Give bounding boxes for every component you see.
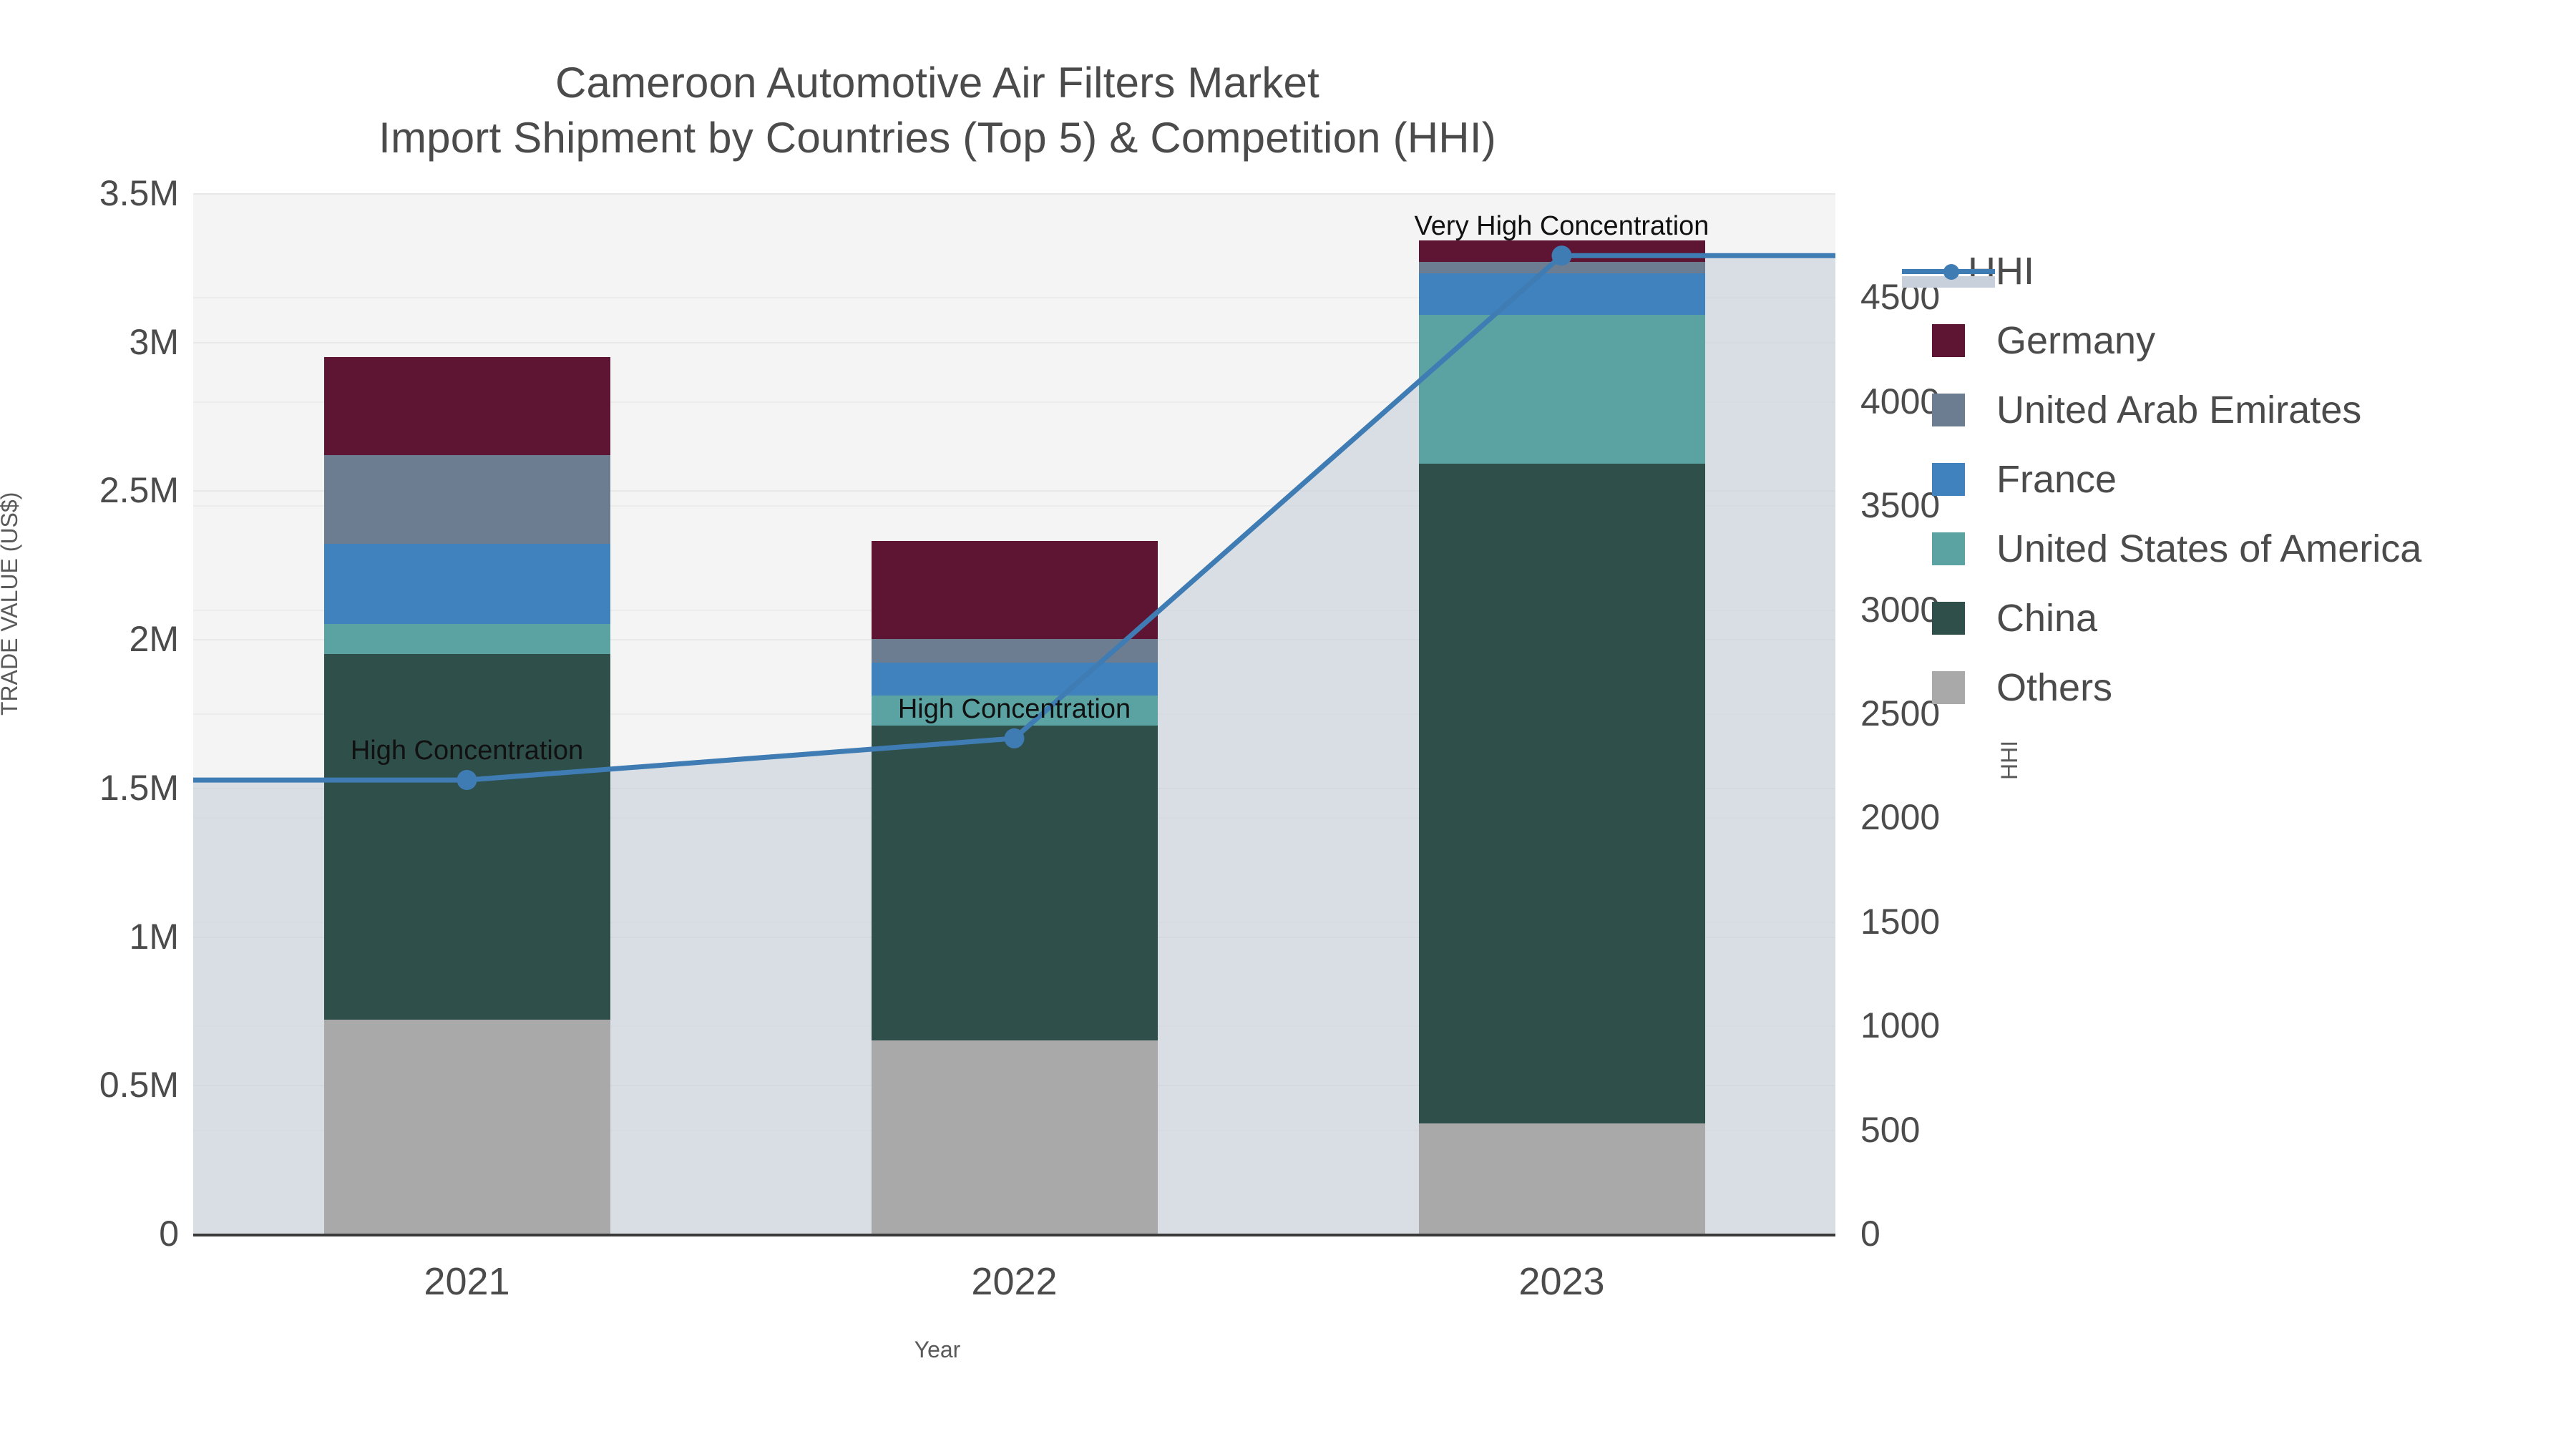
legend-item-others[interactable]: Others: [1932, 653, 2562, 722]
y-axis-left-tick-label: 3M: [0, 321, 179, 363]
x-axis-tick-label: 2022: [971, 1259, 1057, 1304]
y-axis-left-tick-label: 0.5M: [0, 1064, 179, 1106]
y-axis-left-tick-label: 1M: [0, 916, 179, 957]
y-axis-left-tick-label: 0: [0, 1213, 179, 1254]
hhi-marker[interactable]: [1552, 245, 1572, 265]
y-axis-right-tick-label: 0: [1860, 1213, 1880, 1254]
legend-color-swatch: [1932, 463, 1965, 496]
chart-title: Cameroon Automotive Air Filters Market: [0, 56, 1875, 111]
chart-subtitle: Import Shipment by Countries (Top 5) & C…: [0, 111, 1875, 166]
legend-item-label: United Arab Emirates: [1996, 388, 2361, 432]
x-axis-title: Year: [0, 1337, 1875, 1363]
legend-color-swatch: [1932, 324, 1965, 357]
legend-item-hhi[interactable]: HHI: [1932, 236, 2562, 306]
legend-item-label: China: [1996, 596, 2097, 640]
y-axis-right-title: HHI: [1996, 741, 2023, 780]
legend-item-united-arab-emirates[interactable]: United Arab Emirates: [1932, 375, 2562, 444]
hhi-marker[interactable]: [1005, 728, 1025, 748]
legend-item-label: United States of America: [1996, 527, 2421, 571]
chart-container: Cameroon Automotive Air Filters Market I…: [0, 0, 2576, 1449]
legend-item-france[interactable]: France: [1932, 444, 2562, 514]
legend-item-germany[interactable]: Germany: [1932, 306, 2562, 375]
legend-item-united-states-of-america[interactable]: United States of America: [1932, 514, 2562, 583]
x-axis-line: [193, 1234, 1835, 1236]
hhi-annotation: High Concentration: [898, 694, 1131, 725]
legend-color-swatch: [1932, 532, 1965, 565]
y-axis-left-tick-label: 2M: [0, 618, 179, 660]
y-axis-left-title: TRADE VALUE (US$): [0, 492, 23, 716]
chart-title-block: Cameroon Automotive Air Filters Market I…: [0, 56, 1875, 166]
y-axis-left-tick-label: 3.5M: [0, 172, 179, 214]
x-axis-tick-label: 2021: [424, 1259, 509, 1304]
x-axis-tick-label: 2023: [1518, 1259, 1604, 1304]
y-axis-right-tick-label: 500: [1860, 1109, 1920, 1151]
legend-item-label: Others: [1996, 665, 2112, 710]
legend-color-swatch: [1932, 602, 1965, 635]
hhi-marker[interactable]: [457, 770, 477, 790]
legend-item-china[interactable]: China: [1932, 583, 2562, 653]
y-axis-right-tick-label: 1000: [1860, 1005, 1940, 1046]
hhi-annotation: High Concentration: [351, 736, 583, 766]
hhi-annotation: Very High Concentration: [1415, 211, 1709, 242]
chart-legend[interactable]: HHIGermanyUnited Arab EmiratesFranceUnit…: [1932, 236, 2562, 722]
y-axis-right-tick-label: 2000: [1860, 796, 1940, 838]
legend-line-icon: [1902, 255, 1995, 288]
legend-item-label: France: [1996, 457, 2117, 502]
y-axis-right-tick-label: 3000: [1860, 589, 1940, 630]
y-axis-left-tick-label: 2.5M: [0, 469, 179, 511]
legend-item-label: Germany: [1996, 318, 2155, 363]
y-axis-right-tick-label: 1500: [1860, 901, 1940, 942]
y-axis-left-tick-label: 1.5M: [0, 767, 179, 809]
legend-color-swatch: [1932, 671, 1965, 704]
legend-color-swatch: [1932, 394, 1965, 426]
